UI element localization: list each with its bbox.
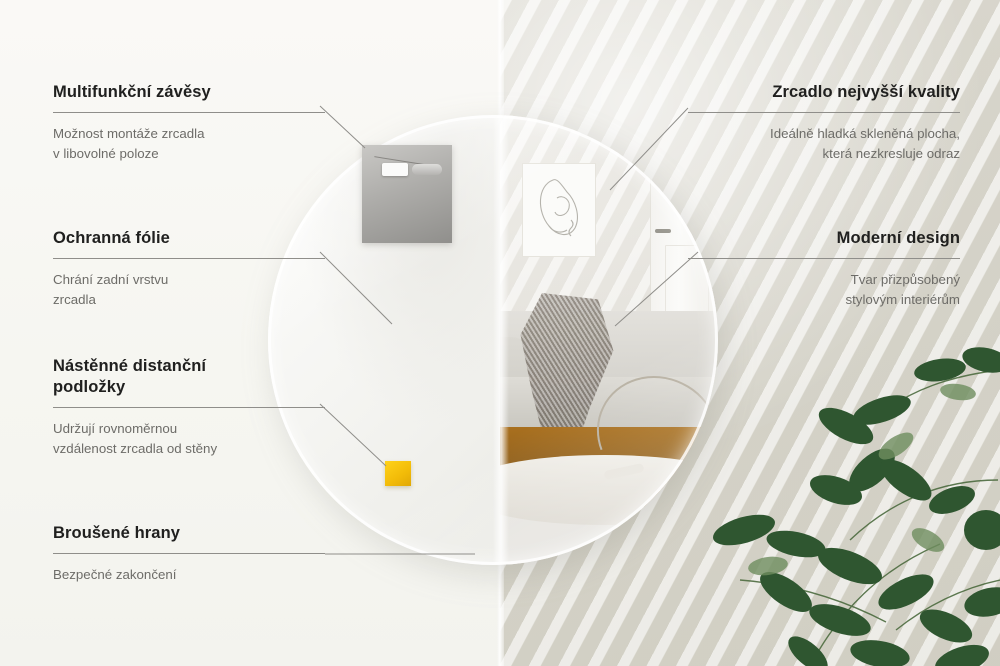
mirror-glass-surface [500, 115, 718, 565]
callout-body: Ideálně hladká skleněná plocha, která ne… [688, 124, 960, 164]
bracket-clip [412, 164, 442, 175]
callout-title: Broušené hrany [53, 523, 325, 544]
callout-body-line-1: Chrání zadní vrstvu [53, 272, 168, 287]
callout-rule [53, 407, 325, 408]
callout-body-line-2: která nezkresluje odraz [823, 146, 960, 161]
callout-body: Chrání zadní vrstvu zrcadla [53, 270, 325, 310]
callout-title: Moderní design [688, 228, 960, 249]
callout-body-line-2: stylovým interiérům [845, 292, 960, 307]
callout-title: Ochranná fólie [53, 228, 325, 249]
callout-title: Nástěnné distanční podložky [53, 356, 325, 398]
hanging-bracket [362, 145, 452, 243]
callout-title: Multifunkční závěsy [53, 82, 325, 103]
callout-body: Možnost montáže zrcadla v libovolné polo… [53, 124, 325, 164]
infographic-canvas: Multifunkční závěsy Možnost montáže zrca… [0, 0, 1000, 666]
mirror-body [268, 115, 718, 565]
callout-body: Udržují rovnoměrnou vzdálenost zrcadla o… [53, 419, 325, 459]
callout-body-line-1: Udržují rovnoměrnou [53, 421, 177, 436]
callout-body-line-2: vzdálenost zrcadla od stěny [53, 441, 217, 456]
callout-body-line-1: Možnost montáže zrcadla [53, 126, 205, 141]
yellow-spacer-pad [385, 461, 411, 486]
callout-body-line-1: Tvar přizpůsobený [851, 272, 960, 287]
callout-title: Zrcadlo nejvyšší kvality [688, 82, 960, 103]
bracket-keyhole-slot [382, 163, 408, 176]
callout-rule [688, 112, 960, 113]
reflected-door-handle [655, 229, 671, 233]
foliage-decoration [700, 330, 1000, 666]
callout-rule [53, 112, 325, 113]
callout-body: Bezpečné zakončení [53, 565, 325, 585]
line-art-face-icon [523, 164, 595, 256]
callout-multifunctional-hangers: Multifunkční závěsy Možnost montáže zrca… [53, 82, 325, 164]
callout-modern-design: Moderní design Tvar přizpůsobený stylový… [688, 228, 960, 310]
callout-wall-spacers: Nástěnné distanční podložky Udržují rovn… [53, 356, 325, 459]
callout-rule [53, 258, 325, 259]
callout-title-line-1: Nástěnné distanční [53, 357, 206, 375]
callout-body: Tvar přizpůsobený stylovým interiérům [688, 270, 960, 310]
callout-rule [688, 258, 960, 259]
round-mirror [268, 115, 718, 565]
callout-body-line-1: Ideálně hladká skleněná plocha, [770, 126, 960, 141]
callout-body-line-2: zrcadla [53, 292, 96, 307]
callout-protective-film: Ochranná fólie Chrání zadní vrstvu zrcad… [53, 228, 325, 310]
reflected-line-art-poster [522, 163, 596, 257]
callout-title-line-2: podložky [53, 378, 125, 396]
callout-rule [53, 553, 325, 554]
callout-top-quality-mirror: Zrcadlo nejvyšší kvality Ideálně hladká … [688, 82, 960, 164]
callout-body-line-2: v libovolné poloze [53, 146, 159, 161]
callout-polished-edges: Broušené hrany Bezpečné zakončení [53, 523, 325, 585]
